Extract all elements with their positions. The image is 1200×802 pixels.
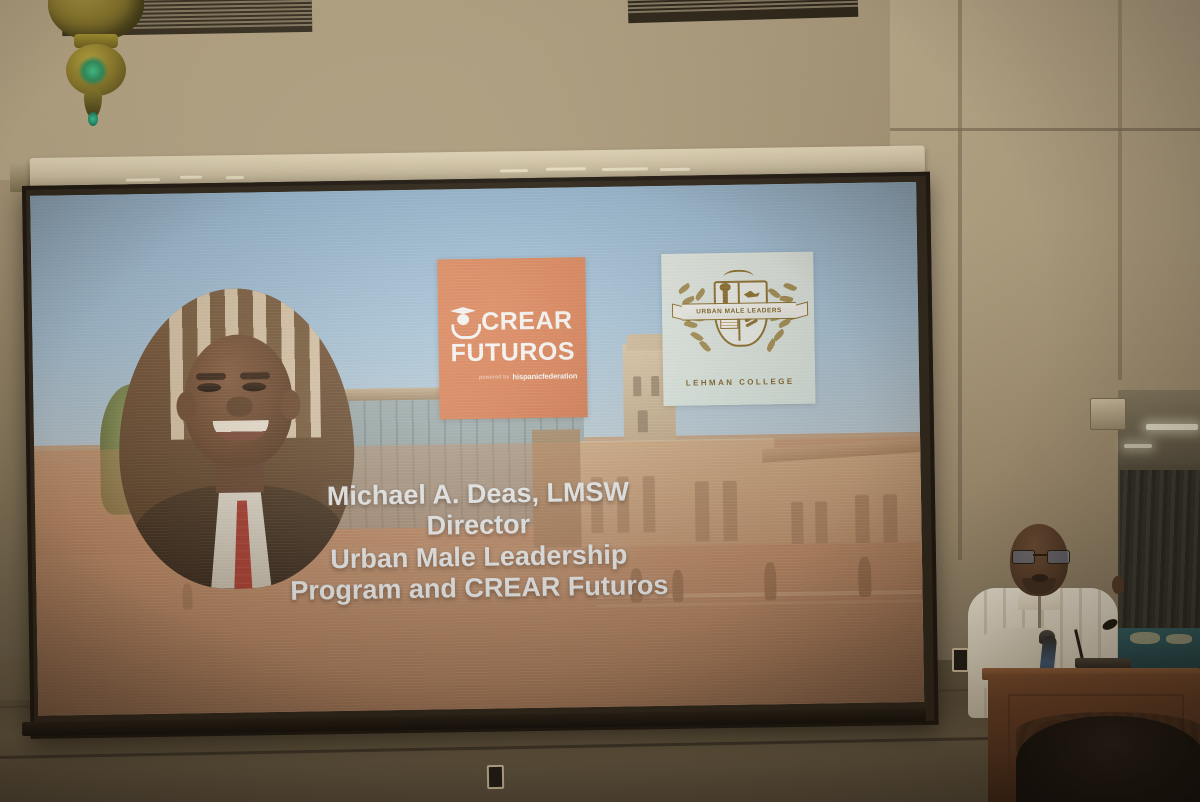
eyeglasses-icon (1012, 550, 1068, 562)
podium-object (1075, 658, 1131, 668)
wall-pilaster (958, 0, 962, 560)
slide-content: CREAR FUTUROS powered by hispanicfederat… (30, 182, 924, 716)
projection-screen: CREAR FUTUROS powered by hispanicfederat… (22, 172, 939, 739)
ceiling-tube-light (1146, 424, 1198, 430)
wall-outlet-plate (487, 765, 504, 789)
table-object (1166, 634, 1192, 644)
chandelier-green-glow (78, 56, 108, 86)
ceiling-tube-light (1124, 444, 1152, 448)
audience-member-silhouette (1016, 716, 1200, 802)
wall-seam (890, 128, 1200, 131)
wall-mounted-speaker (1090, 398, 1126, 430)
auditorium-photo: CREAR FUTUROS powered by hispanicfederat… (0, 0, 1200, 802)
wall-pilaster-right (1118, 0, 1122, 380)
projection-vignette (30, 182, 924, 716)
chandelier (0, 0, 350, 140)
